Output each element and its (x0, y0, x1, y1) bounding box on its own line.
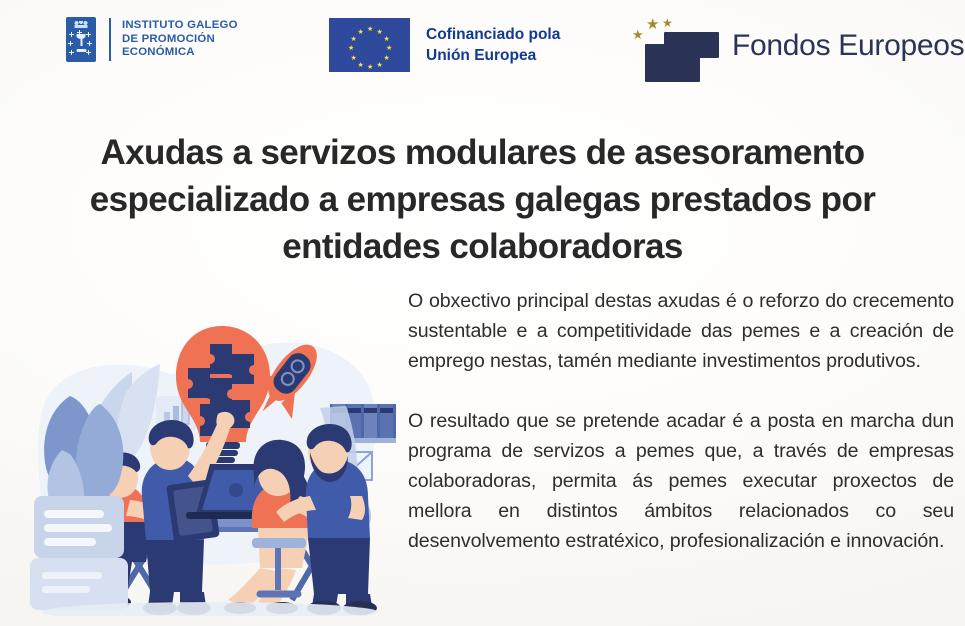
logo-divider (109, 18, 111, 61)
logo-fondos-europeos-label: Fondos Europeos (732, 29, 964, 63)
xunta-de-galicia-coat-of-arms-icon (66, 17, 96, 62)
logo-eu-line-2: Unión Europea (426, 45, 560, 66)
body-paragraph-1: O obxectivo principal destas axudas é o … (408, 286, 954, 376)
logo-igape-line-1: INSTITUTO GALEGO (122, 19, 238, 33)
fondos-europeos-stairs-mark-icon: ★ ★ ★ (618, 10, 722, 82)
body-paragraph-2: O resultado que se pretende acadar é a p… (408, 406, 954, 556)
logo-igape-text: INSTITUTO GALEGO DE PROMOCIÓN ECONÓMICA (122, 19, 238, 60)
logo-eu-line-1: Cofinanciado pola (426, 24, 560, 45)
european-union-flag-icon: ★ ★ ★ ★ ★ ★ ★ ★ ★ ★ ★ ★ (329, 18, 410, 72)
logo-fondos-europeos: ★ ★ ★ Fondos Europeos (618, 10, 964, 82)
logo-igape-line-3: ECONÓMICA (122, 46, 238, 60)
illustration-svg (14, 300, 396, 616)
body-copy: O obxectivo principal destas axudas é o … (408, 286, 954, 556)
poster-page: INSTITUTO GALEGO DE PROMOCIÓN ECONÓMICA … (0, 0, 965, 626)
logo-igape-line-2: DE PROMOCIÓN (122, 33, 238, 47)
logo-european-union: ★ ★ ★ ★ ★ ★ ★ ★ ★ ★ ★ ★ Cofinanciado pol… (329, 18, 560, 72)
logo-igape: INSTITUTO GALEGO DE PROMOCIÓN ECONÓMICA (66, 17, 238, 62)
chalice-icon (76, 34, 87, 52)
logo-bar: INSTITUTO GALEGO DE PROMOCIÓN ECONÓMICA … (0, 0, 965, 90)
team-collaboration-illustration (14, 300, 396, 616)
logo-eu-text: Cofinanciado pola Unión Europea (426, 24, 560, 66)
page-title: Axudas a servizos modulares de asesorame… (0, 129, 965, 270)
